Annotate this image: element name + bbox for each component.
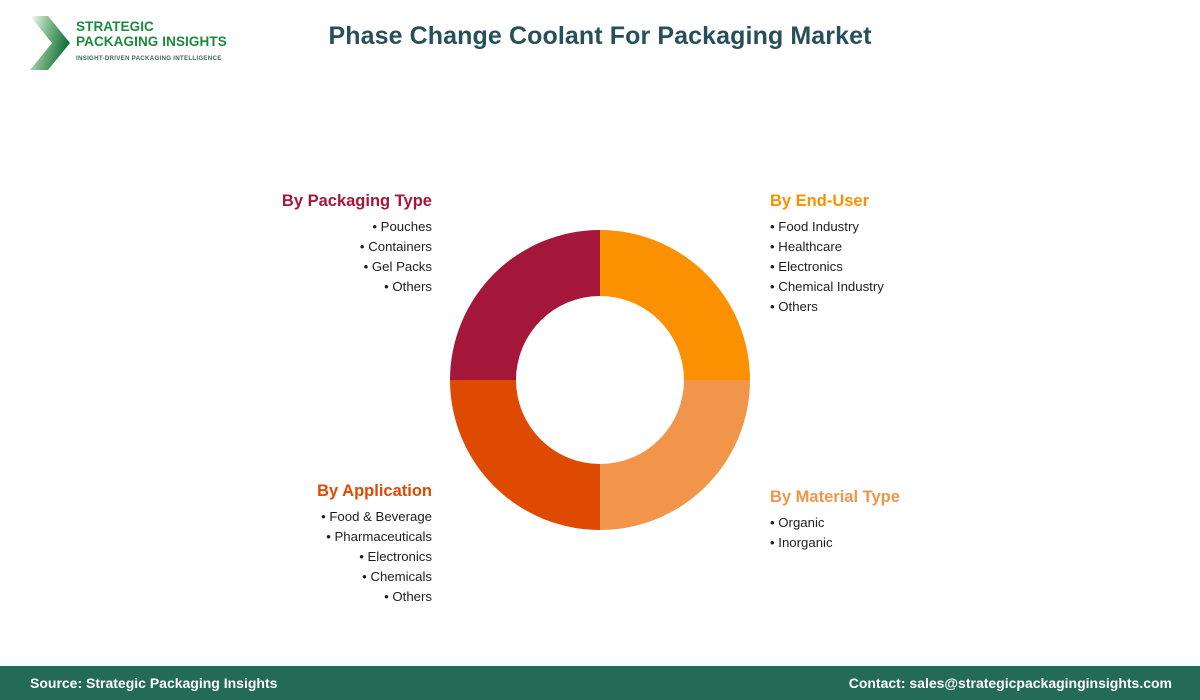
list-item-label: Electronics (778, 259, 843, 274)
segment-title-end-user: By End-User (770, 192, 1050, 211)
list-item: • Electronics (770, 257, 1050, 277)
page-footer: Source: Strategic Packaging Insights Con… (0, 666, 1200, 700)
bullet-icon: • (770, 299, 775, 314)
list-item-label: Chemical Industry (778, 279, 884, 294)
bullet-icon: • (321, 509, 326, 524)
list-item: • Others (770, 297, 1050, 317)
bullet-icon: • (326, 529, 331, 544)
list-item: • Chemicals (168, 567, 432, 587)
segment-block-application: By Application • Food & Beverage • Pharm… (168, 482, 432, 607)
list-item: • Inorganic (770, 533, 1050, 553)
list-item: • Gel Packs (188, 257, 432, 277)
bullet-icon: • (384, 279, 389, 294)
bullet-icon: • (362, 569, 367, 584)
list-item-label: Containers (368, 239, 432, 254)
list-item-label: Food & Beverage (329, 509, 432, 524)
segment-list-packaging-type: • Pouches • Containers • Gel Packs • Oth… (188, 217, 432, 297)
bullet-icon: • (770, 515, 775, 530)
list-item-label: Pouches (381, 219, 432, 234)
list-item: • Containers (188, 237, 432, 257)
list-item-label: Food Industry (778, 219, 859, 234)
list-item-label: Inorganic (778, 535, 832, 550)
list-item: • Others (168, 587, 432, 607)
segment-block-end-user: By End-User • Food Industry • Healthcare… (770, 192, 1050, 317)
segment-title-material-type: By Material Type (770, 488, 1050, 507)
list-item-label: Electronics (368, 549, 433, 564)
list-item-label: Others (392, 279, 432, 294)
list-item: • Electronics (168, 547, 432, 567)
bullet-icon: • (360, 239, 365, 254)
donut-chart (445, 225, 755, 535)
list-item: • Others (188, 277, 432, 297)
bullet-icon: • (770, 279, 775, 294)
segment-block-packaging-type: By Packaging Type • Pouches • Containers… (188, 192, 432, 297)
list-item-label: Organic (778, 515, 824, 530)
footer-contact[interactable]: Contact: sales@strategicpackaginginsight… (849, 675, 1172, 691)
list-item: • Pouches (188, 217, 432, 237)
page-header: STRATEGIC PACKAGING INSIGHTS INSIGHT-DRI… (0, 0, 1200, 90)
list-item: • Organic (770, 513, 1050, 533)
list-item-label: Healthcare (778, 239, 842, 254)
list-item: • Food Industry (770, 217, 1050, 237)
bullet-icon: • (770, 239, 775, 254)
segment-title-application: By Application (168, 482, 432, 501)
list-item: • Pharmaceuticals (168, 527, 432, 547)
list-item-label: Others (392, 589, 432, 604)
list-item-label: Others (778, 299, 818, 314)
segment-title-packaging-type: By Packaging Type (188, 192, 432, 211)
footer-source: Source: Strategic Packaging Insights (30, 675, 277, 691)
list-item: • Healthcare (770, 237, 1050, 257)
bullet-icon: • (359, 549, 364, 564)
list-item-label: Chemicals (370, 569, 432, 584)
list-item: • Food & Beverage (168, 507, 432, 527)
bullet-icon: • (372, 219, 377, 234)
segment-list-application: • Food & Beverage • Pharmaceuticals • El… (168, 507, 432, 607)
bullet-icon: • (364, 259, 369, 274)
brand-tagline: INSIGHT-DRIVEN PACKAGING INTELLIGENCE (76, 55, 227, 62)
bullet-icon: • (770, 535, 775, 550)
page-title: Phase Change Coolant For Packaging Marke… (0, 22, 1200, 51)
donut-chart-svg (445, 225, 755, 535)
list-item-label: Pharmaceuticals (335, 529, 432, 544)
segment-list-material-type: • Organic • Inorganic (770, 513, 1050, 553)
donut-center-hole (516, 296, 684, 464)
bullet-icon: • (770, 259, 775, 274)
bullet-icon: • (384, 589, 389, 604)
segment-list-end-user: • Food Industry • Healthcare • Electroni… (770, 217, 1050, 317)
bullet-icon: • (770, 219, 775, 234)
segment-block-material-type: By Material Type • Organic • Inorganic (770, 488, 1050, 553)
list-item: • Chemical Industry (770, 277, 1050, 297)
list-item-label: Gel Packs (372, 259, 432, 274)
